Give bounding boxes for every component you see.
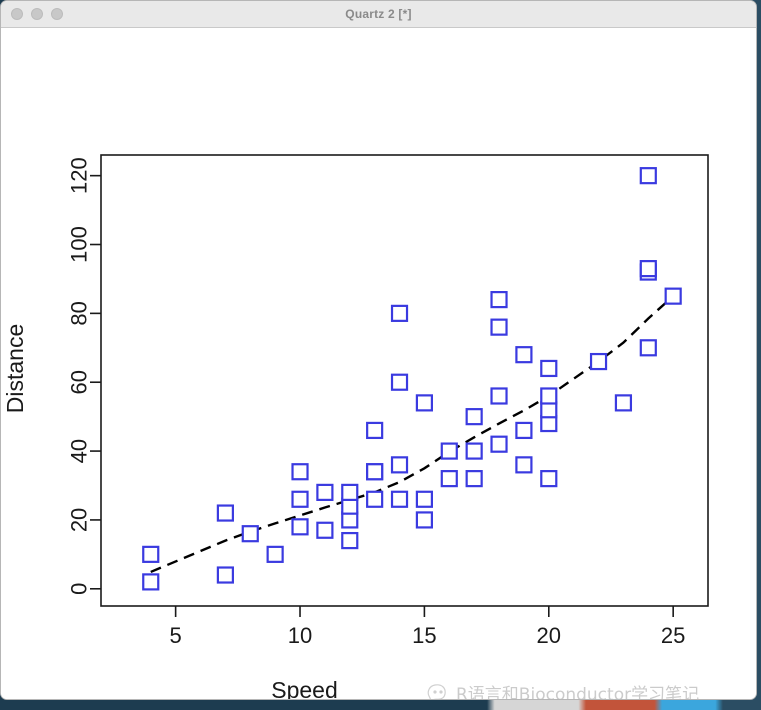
smoother-path [151,296,673,572]
close-button[interactable] [11,8,23,20]
data-point [417,512,432,527]
data-point [516,423,531,438]
x-tick-label: 15 [412,623,436,648]
data-point [342,533,357,548]
scatter-plot: 510152025020406080100120SpeedDistance [1,28,757,700]
data-point [293,519,308,534]
axis-labels-layer: 510152025020406080100120SpeedDistance [2,157,685,700]
data-point [218,568,233,583]
data-point [666,289,681,304]
y-tick-label: 80 [67,301,92,325]
x-tick-label: 10 [288,623,312,648]
screen: Quartz 2 [*] 510152025020406080100120Spe… [0,0,761,710]
minimize-button[interactable] [31,8,43,20]
plot-canvas: 510152025020406080100120SpeedDistance R语… [1,28,756,700]
data-point [442,444,457,459]
data-point [492,320,507,335]
data-points-layer [143,168,680,589]
data-point [367,492,382,507]
y-tick-label: 40 [67,439,92,463]
data-point [541,361,556,376]
window-controls[interactable] [11,8,63,20]
y-tick-label: 100 [67,226,92,263]
data-point [641,168,656,183]
x-axis-title: Speed [271,677,338,700]
data-point [641,340,656,355]
y-tick-label: 60 [67,370,92,394]
y-tick-label: 120 [67,157,92,194]
data-point [417,395,432,410]
data-point [417,492,432,507]
data-point [591,354,606,369]
data-point [541,388,556,403]
data-point [516,347,531,362]
data-point [616,395,631,410]
data-point [442,471,457,486]
data-point [467,409,482,424]
data-point [367,423,382,438]
data-point [392,457,407,472]
data-point [293,492,308,507]
data-point [218,506,233,521]
zoom-button[interactable] [51,8,63,20]
x-tick-label: 25 [661,623,685,648]
lowess-smoother-line [151,296,673,572]
data-point [143,574,158,589]
data-point [143,547,158,562]
x-tick-label: 5 [170,623,182,648]
y-tick-label: 20 [67,508,92,532]
window-title: Quartz 2 [*] [1,7,756,21]
data-point [467,471,482,486]
data-point [516,457,531,472]
data-point [342,485,357,500]
data-point [392,492,407,507]
quartz-window: Quartz 2 [*] 510152025020406080100120Spe… [0,0,757,700]
data-point [392,375,407,390]
data-point [492,292,507,307]
data-point [492,437,507,452]
data-point [317,523,332,538]
data-point [293,464,308,479]
y-axis-title: Distance [2,324,28,413]
window-titlebar[interactable]: Quartz 2 [*] [1,1,756,28]
y-tick-label: 0 [67,583,92,595]
data-point [243,526,258,541]
data-point [268,547,283,562]
data-point [367,464,382,479]
data-point [317,485,332,500]
data-point [392,306,407,321]
x-tick-label: 20 [537,623,561,648]
data-point [641,261,656,276]
data-point [541,471,556,486]
data-point [467,444,482,459]
data-point [492,388,507,403]
